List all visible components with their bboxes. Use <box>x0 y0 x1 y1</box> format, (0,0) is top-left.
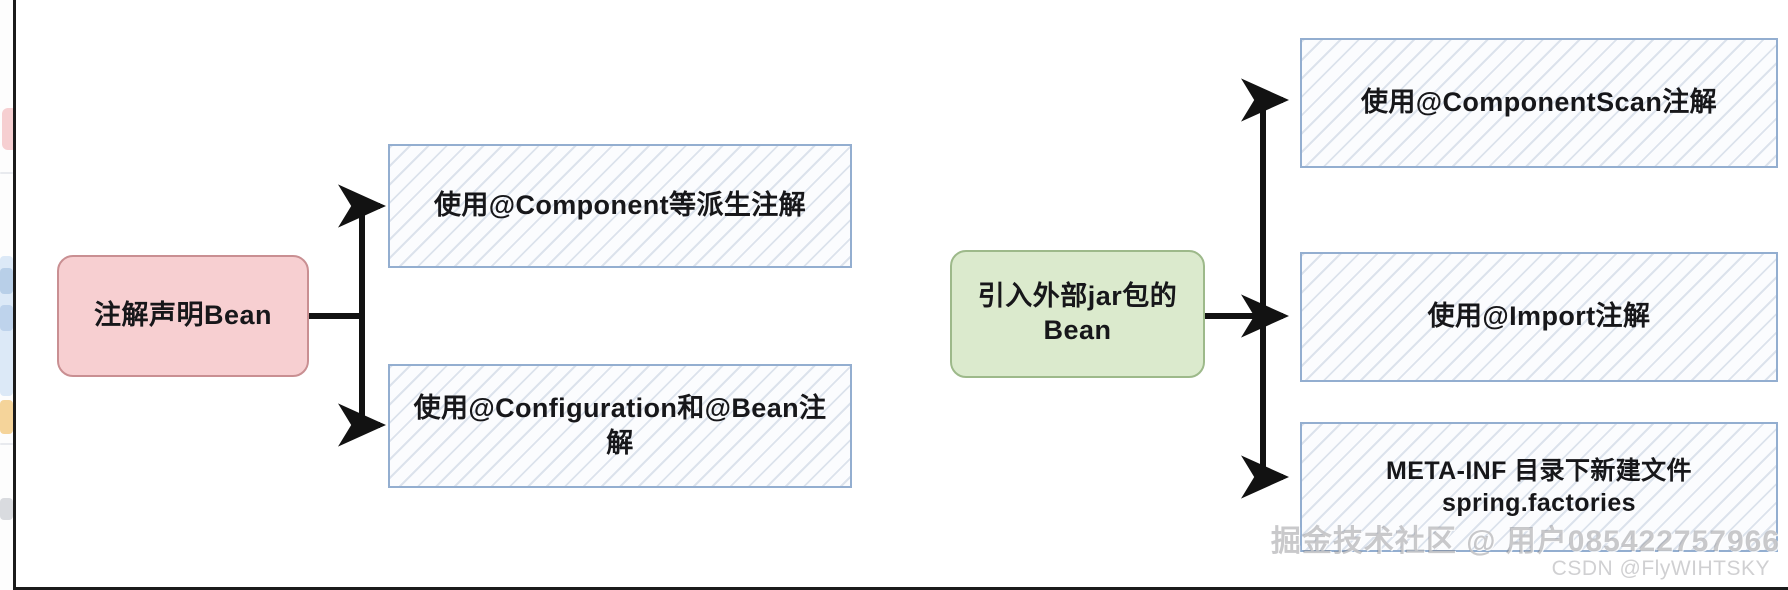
node-label: 使用@ComponentScan注解 <box>1347 85 1731 120</box>
node-label: 引入外部jar包的 Bean <box>968 280 1188 348</box>
edge-artifact-divider-bottom <box>0 443 13 445</box>
node-label-line-1: 引入外部jar包的 <box>978 281 1178 311</box>
node-label: 使用@Component等派生注解 <box>420 188 820 223</box>
node-label-line-2: spring.factories <box>1442 489 1636 517</box>
node-use-import-annotation[interactable]: 使用@Import注解 <box>1300 252 1778 382</box>
node-label: 使用@Configuration和@Bean注解 <box>390 391 850 461</box>
node-annotation-declared-bean[interactable]: 注解声明Bean <box>57 255 309 377</box>
diagram-canvas: 注解声明Bean 使用@Component等派生注解 使用@Configurat… <box>0 0 1788 590</box>
node-use-componentscan-annotation[interactable]: 使用@ComponentScan注解 <box>1300 38 1778 168</box>
edge-artifact-text-line-2 <box>0 305 13 331</box>
node-label: META-INF 目录下新建文件 spring.factories <box>1372 455 1706 520</box>
node-label: 注解声明Bean <box>84 299 282 333</box>
node-use-configuration-bean-annotations[interactable]: 使用@Configuration和@Bean注解 <box>388 364 852 488</box>
page-edge-sliver <box>0 0 13 590</box>
edge-artifact-text-line-3 <box>0 498 13 520</box>
node-external-jar-bean[interactable]: 引入外部jar包的 Bean <box>950 250 1205 378</box>
connector-group-external-jar <box>1205 100 1283 477</box>
frame-border-left <box>13 0 16 590</box>
connector-group-annotation <box>309 206 380 425</box>
edge-artifact-amber-block <box>0 400 13 434</box>
edge-artifact-pink-block <box>2 108 13 150</box>
edge-artifact-divider-top <box>0 172 13 174</box>
watermark-csdn: CSDN @FlyWIHTSKY <box>1552 557 1770 581</box>
node-label-line-2: Bean <box>1043 315 1111 345</box>
node-use-component-annotations[interactable]: 使用@Component等派生注解 <box>388 144 852 268</box>
node-label: 使用@Import注解 <box>1414 299 1665 334</box>
edge-artifact-text-line-1 <box>0 268 13 294</box>
watermark-juejin: 掘金技术社区 @ 用户085422757966 <box>1271 516 1780 560</box>
node-label-line-1: META-INF 目录下新建文件 <box>1386 457 1692 485</box>
